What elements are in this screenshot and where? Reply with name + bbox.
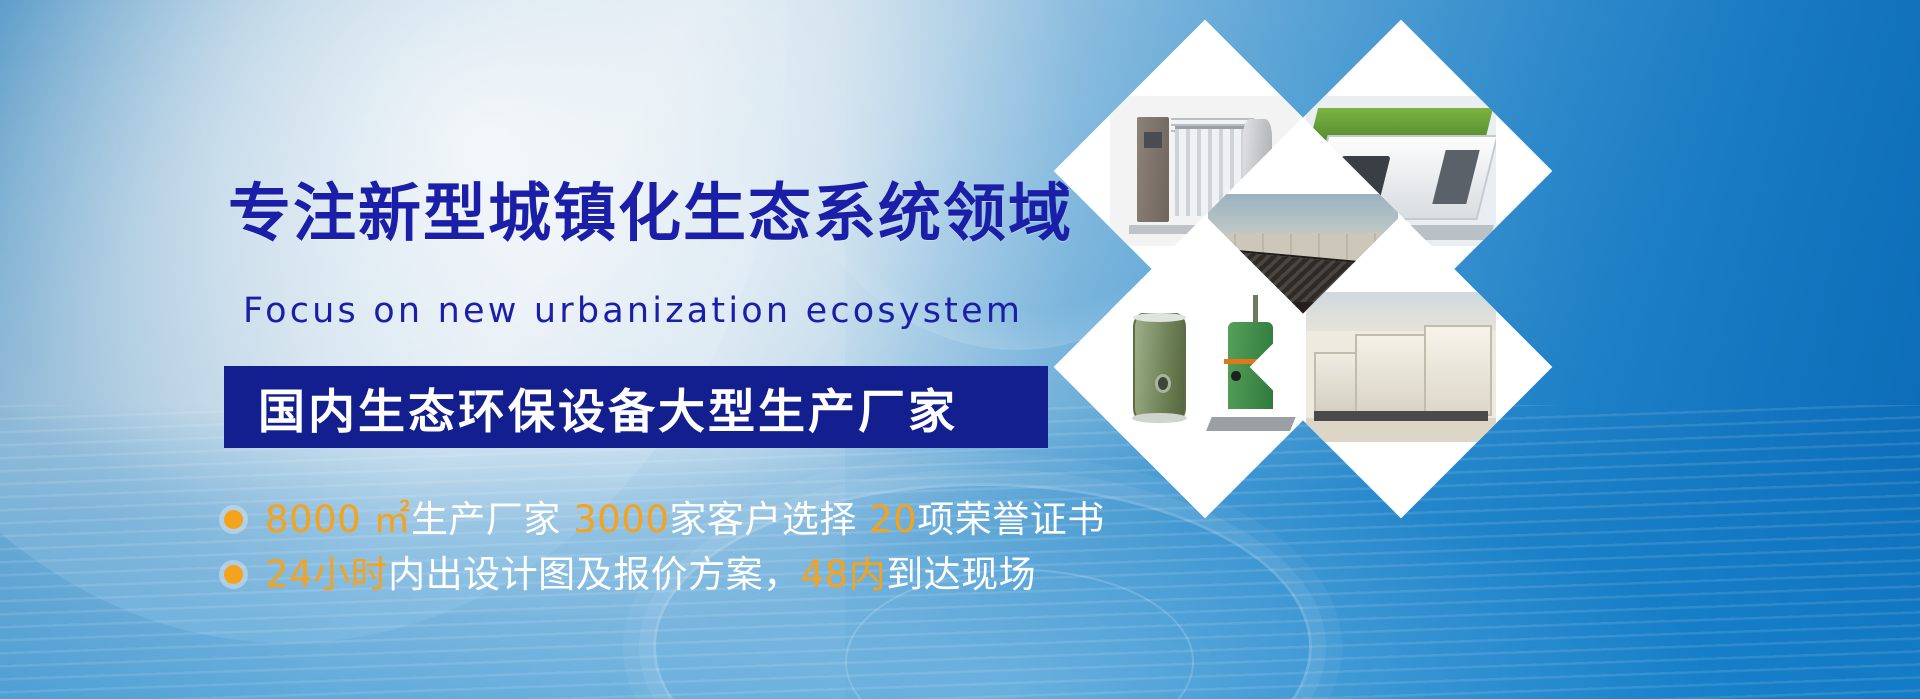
product-diamond-collage	[1120, 52, 1540, 652]
bullet-dot-icon	[224, 510, 243, 529]
subheadline-text: Focus on new urbanization ecosystem	[243, 294, 1023, 329]
banner-copy-block: 专注新型城镇化生态系统领域 Focus on new urbanization …	[0, 0, 1080, 699]
bullet-text: 24小时内出设计图及报价方案，48内到达现场	[265, 556, 1036, 593]
highlight-badge-label: 国内生态环保设备大型生产厂家	[258, 373, 958, 442]
bullet-dot-icon	[224, 565, 243, 584]
feature-bullet-list: 8000 ㎡生产厂家 3000家客户选择 20项荣誉证书 24小时内出设计图及报…	[224, 492, 1105, 602]
list-item: 24小时内出设计图及报价方案，48内到达现场	[224, 547, 1105, 602]
bullet-text: 8000 ㎡生产厂家 3000家客户选择 20项荣誉证书	[265, 501, 1105, 538]
headline-text: 专注新型城镇化生态系统领域	[228, 182, 1073, 245]
modular-equipment-enclosures-photo	[1306, 292, 1496, 442]
list-item: 8000 ㎡生产厂家 3000家客户选择 20项荣誉证书	[224, 492, 1105, 547]
highlight-badge: 国内生态环保设备大型生产厂家	[224, 366, 1048, 448]
promo-banner: 专注新型城镇化生态系统领域 Focus on new urbanization …	[0, 0, 1920, 699]
